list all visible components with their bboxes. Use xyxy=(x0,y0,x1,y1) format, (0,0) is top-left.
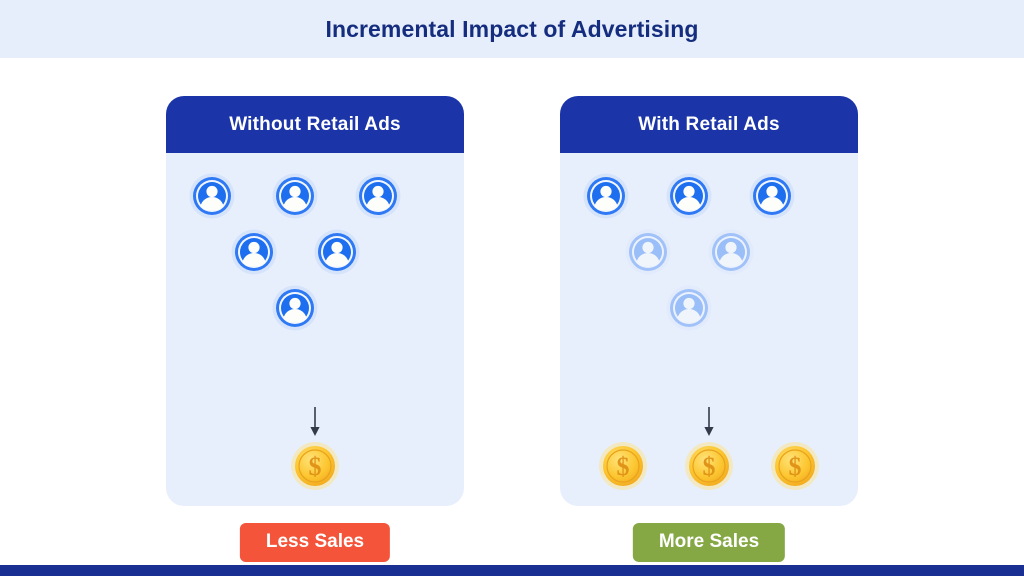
person-icon xyxy=(625,229,671,275)
header-band: Incremental Impact of Advertising xyxy=(0,0,1024,58)
dollar-coin-icon: $ xyxy=(770,441,820,491)
svg-text:$: $ xyxy=(309,452,322,481)
less-sales-button[interactable]: Less Sales xyxy=(240,523,390,562)
arrow-down-icon xyxy=(166,407,464,437)
coins-group-with-retail-ads: $ $ xyxy=(560,441,858,491)
person-icon xyxy=(272,285,318,331)
panel-with-retail-ads: With Retail Ads xyxy=(560,96,858,506)
person-icon xyxy=(189,173,235,219)
panel-header-without-retail-ads: Without Retail Ads xyxy=(166,96,464,153)
bottom-accent-bar xyxy=(0,565,1024,576)
panel-header-label: Without Retail Ads xyxy=(229,114,401,136)
dollar-coin-icon: $ xyxy=(290,441,340,491)
panel-header-label: With Retail Ads xyxy=(638,114,779,136)
people-group-without-retail-ads xyxy=(166,153,464,443)
more-sales-button[interactable]: More Sales xyxy=(633,523,785,562)
person-icon xyxy=(272,173,318,219)
page-title: Incremental Impact of Advertising xyxy=(325,16,698,43)
person-icon xyxy=(749,173,795,219)
svg-text:$: $ xyxy=(789,452,802,481)
person-icon xyxy=(666,285,712,331)
people-group-with-retail-ads xyxy=(560,153,858,443)
person-icon xyxy=(708,229,754,275)
coins-group-without-retail-ads: $ xyxy=(166,441,464,491)
person-icon xyxy=(355,173,401,219)
person-icon xyxy=(231,229,277,275)
svg-text:$: $ xyxy=(617,452,630,481)
dollar-coin-icon: $ xyxy=(598,441,648,491)
panel-header-with-retail-ads: With Retail Ads xyxy=(560,96,858,153)
arrow-down-icon xyxy=(560,407,858,437)
person-icon xyxy=(583,173,629,219)
svg-text:$: $ xyxy=(703,452,716,481)
person-icon xyxy=(666,173,712,219)
comparison-area: Without Retail Ads xyxy=(0,58,1024,565)
person-icon xyxy=(314,229,360,275)
dollar-coin-icon: $ xyxy=(684,441,734,491)
panel-without-retail-ads: Without Retail Ads xyxy=(166,96,464,506)
